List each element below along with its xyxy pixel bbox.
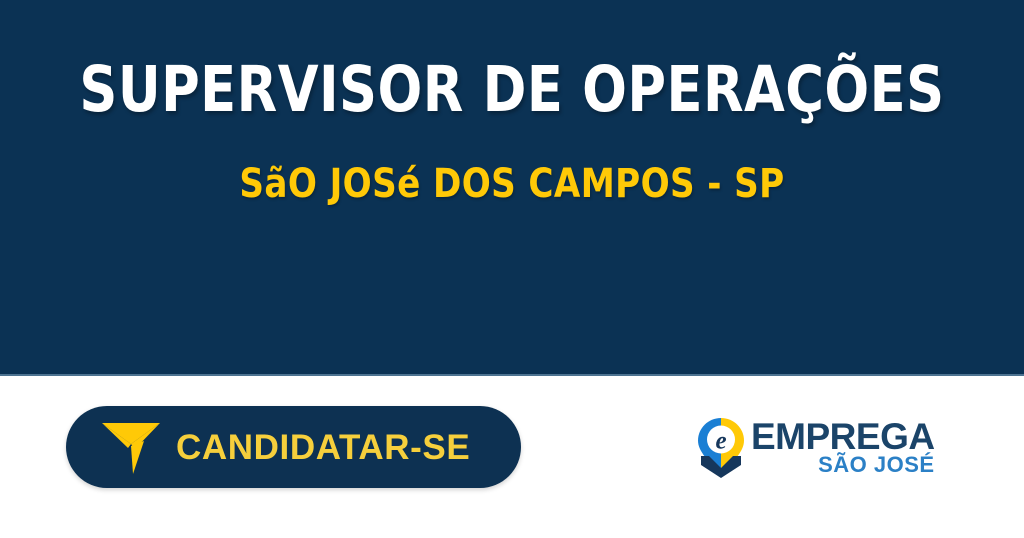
apply-button[interactable]: CANDIDATAR-SE <box>66 406 521 488</box>
brand-name: EMPREGA <box>751 418 935 456</box>
brand-logo: e EMPREGA SÃO JOSÉ <box>697 417 927 487</box>
map-pin-icon: e <box>697 417 745 479</box>
job-posting-card: SUPERVISOR DE OPERAÇÕES SãO JOSé DOS CAM… <box>0 0 1024 538</box>
page-title: SUPERVISOR DE OPERAÇÕES <box>36 52 988 128</box>
brand-subtitle: SÃO JOSÉ <box>818 453 934 477</box>
brand-wordmark: EMPREGA SÃO JOSÉ <box>751 417 935 477</box>
hero-banner: SUPERVISOR DE OPERAÇÕES SãO JOSé DOS CAM… <box>0 0 1024 374</box>
apply-button-label: CANDIDATAR-SE <box>176 430 470 465</box>
svg-text:e: e <box>715 428 726 455</box>
paper-plane-icon <box>100 417 162 477</box>
job-location-text: SãO JOSé DOS CAMPOS - SP <box>26 160 999 208</box>
